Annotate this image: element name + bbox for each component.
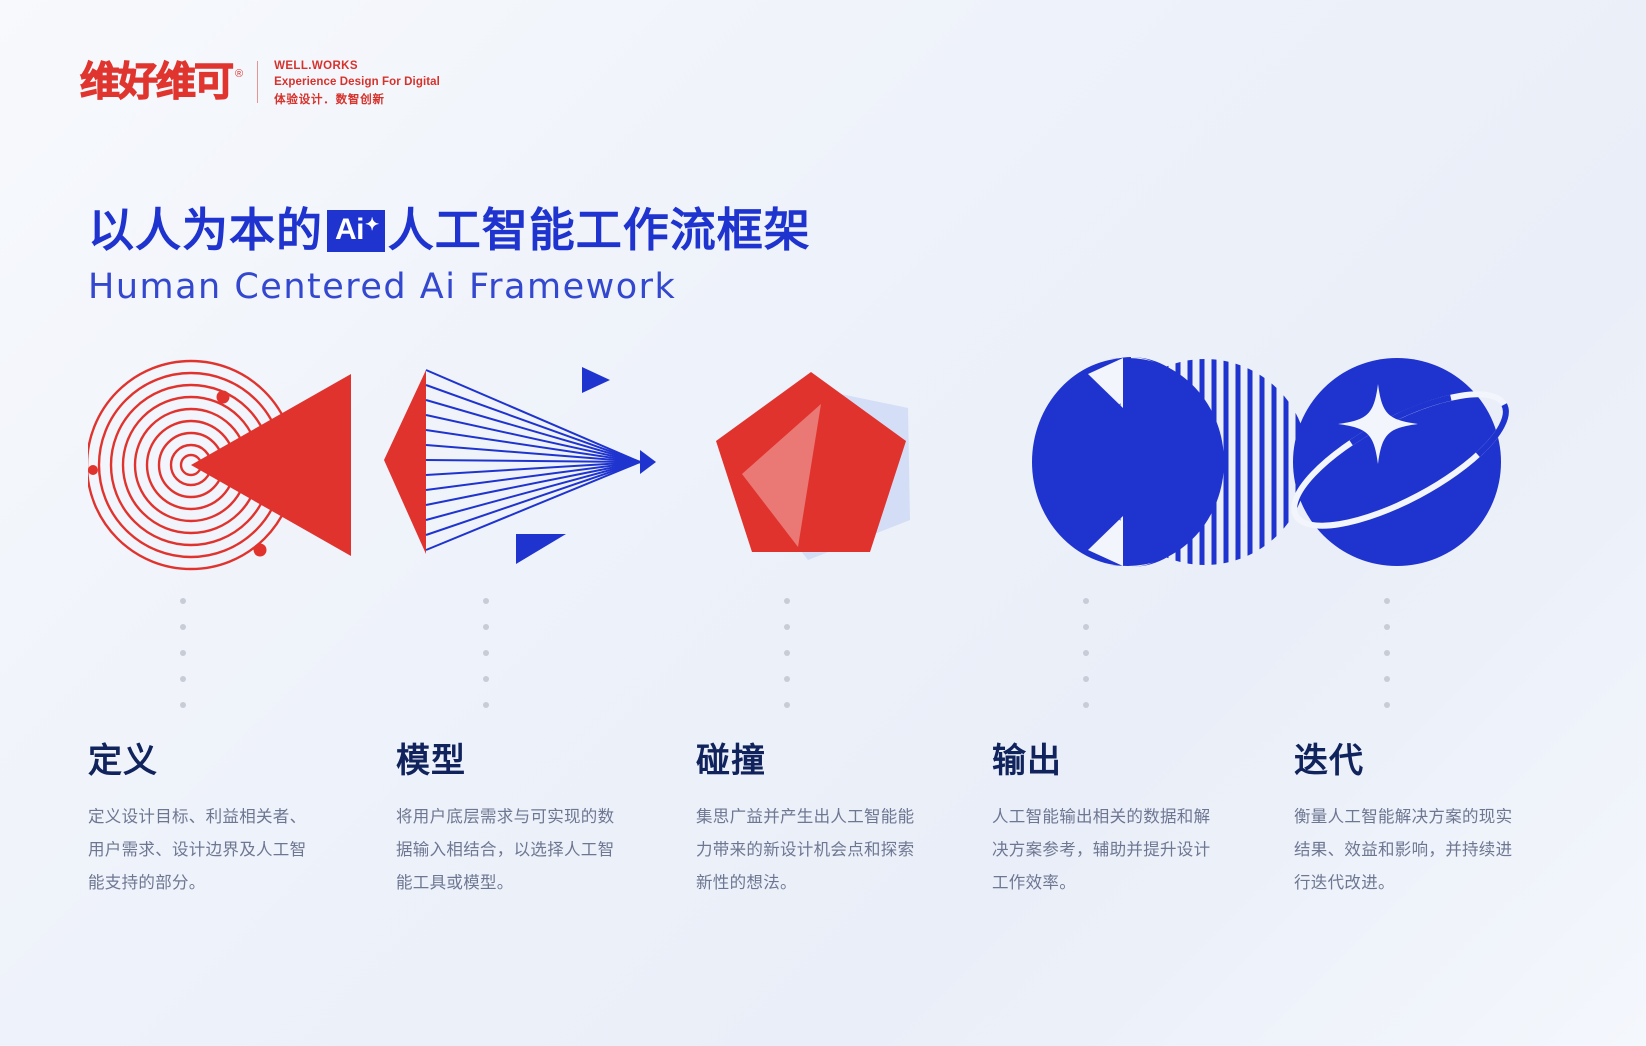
step-column-iterate: 迭代 衡量人工智能解决方案的现实结果、效益和影响，并持续进行迭代改进。 — [1288, 352, 1588, 584]
connector-dot — [1083, 624, 1089, 630]
connector-dot — [784, 676, 790, 682]
striped-spheres-icon — [988, 352, 1288, 584]
ai-badge: Ai ✦ — [327, 210, 385, 252]
step-column-collide: 碰撞 集思广益并产生出人工智能能力带来的新设计机会点和探索新性的想法。 — [688, 352, 988, 584]
connector-dot — [483, 702, 489, 708]
step-text-collide: 碰撞 集思广益并产生出人工智能能力带来的新设计机会点和探索新性的想法。 — [696, 744, 948, 899]
step-text-output: 输出 人工智能输出相关的数据和解决方案参考，辅助并提升设计工作效率。 — [992, 744, 1244, 899]
step-body: 衡量人工智能解决方案的现实结果、效益和影响，并持续进行迭代改进。 — [1294, 800, 1524, 899]
connector-dot — [1083, 676, 1089, 682]
tagline-line-1: WELL.WORKS — [274, 58, 440, 74]
title-text-after: 人工智能工作流框架 — [388, 205, 811, 257]
step-heading: 定义 — [88, 744, 340, 778]
logo-mark: 维好维可 ® — [80, 62, 243, 102]
tagline-line-2: Experience Design For Digital — [274, 74, 440, 90]
connector-dots — [483, 598, 489, 708]
registered-trademark-icon: ® — [235, 68, 243, 80]
logo-chinese-wordmark: 维好维可 — [80, 62, 232, 102]
connector-dot — [784, 650, 790, 656]
step-body: 人工智能输出相关的数据和解决方案参考，辅助并提升设计工作效率。 — [992, 800, 1222, 899]
step-heading: 输出 — [992, 744, 1244, 778]
step-heading: 迭代 — [1294, 744, 1546, 778]
connector-dot — [1384, 650, 1390, 656]
connector-dot — [784, 598, 790, 604]
ringed-planet-icon — [1288, 352, 1588, 584]
concentric-radar-icon — [88, 352, 388, 584]
pentagon-prism-icon — [688, 352, 988, 584]
step-text-define: 定义 定义设计目标、利益相关者、用户需求、设计边界及人工智能支持的部分。 — [88, 744, 340, 899]
connector-dot — [180, 676, 186, 682]
framework-steps: 定义 定义设计目标、利益相关者、用户需求、设计边界及人工智能支持的部分。 — [0, 352, 1646, 584]
brand-logo: 维好维可 ® WELL.WORKS Experience Design For … — [80, 58, 440, 107]
connector-dot — [784, 702, 790, 708]
connector-dots — [784, 598, 790, 708]
page-title-block: 以人为本的 Ai ✦ 人工智能工作流框架 Human Centered Ai F… — [88, 205, 811, 307]
connector-dots — [180, 598, 186, 708]
connector-dot — [784, 624, 790, 630]
connector-dot — [1384, 702, 1390, 708]
ai-badge-label: Ai — [335, 215, 364, 245]
step-column-output: 输出 人工智能输出相关的数据和解决方案参考，辅助并提升设计工作效率。 — [988, 352, 1288, 584]
page-subtitle: Human Centered Ai Framework — [88, 267, 811, 307]
connector-dot — [483, 598, 489, 604]
step-column-model: 模型 将用户底层需求与可实现的数据输入相结合，以选择人工智能工具或模型。 — [388, 352, 688, 584]
connector-dot — [483, 676, 489, 682]
connector-dot — [1083, 650, 1089, 656]
brand-tagline: WELL.WORKS Experience Design For Digital… — [274, 58, 440, 107]
connector-dot — [1083, 702, 1089, 708]
page-title: 以人为本的 Ai ✦ 人工智能工作流框架 — [88, 205, 811, 257]
connector-dot — [1384, 624, 1390, 630]
step-text-iterate: 迭代 衡量人工智能解决方案的现实结果、效益和影响，并持续进行迭代改进。 — [1294, 744, 1546, 899]
step-text-model: 模型 将用户底层需求与可实现的数据输入相结合，以选择人工智能工具或模型。 — [396, 744, 648, 899]
converging-rays-icon — [388, 352, 688, 584]
connector-dots — [1384, 598, 1390, 708]
connector-dot — [180, 624, 186, 630]
connector-dot — [483, 624, 489, 630]
connector-dot — [1083, 598, 1089, 604]
connector-dots — [1083, 598, 1089, 708]
title-text-before: 以人为本的 — [88, 205, 323, 257]
step-body: 集思广益并产生出人工智能能力带来的新设计机会点和探索新性的想法。 — [696, 800, 926, 899]
connector-dot — [1384, 676, 1390, 682]
connector-dot — [1384, 598, 1390, 604]
step-body: 定义设计目标、利益相关者、用户需求、设计边界及人工智能支持的部分。 — [88, 800, 318, 899]
step-heading: 碰撞 — [696, 744, 948, 778]
slide-canvas: 维好维可 ® WELL.WORKS Experience Design For … — [0, 0, 1646, 1046]
step-heading: 模型 — [396, 744, 648, 778]
sparkle-icon: ✦ — [365, 216, 379, 233]
logo-divider — [257, 61, 258, 103]
connector-dot — [483, 650, 489, 656]
connector-dot — [180, 598, 186, 604]
tagline-line-3: 体验设计．数智创新 — [274, 91, 440, 107]
connector-dot — [180, 702, 186, 708]
connector-dot — [180, 650, 186, 656]
step-column-define: 定义 定义设计目标、利益相关者、用户需求、设计边界及人工智能支持的部分。 — [88, 352, 388, 584]
step-body: 将用户底层需求与可实现的数据输入相结合，以选择人工智能工具或模型。 — [396, 800, 626, 899]
